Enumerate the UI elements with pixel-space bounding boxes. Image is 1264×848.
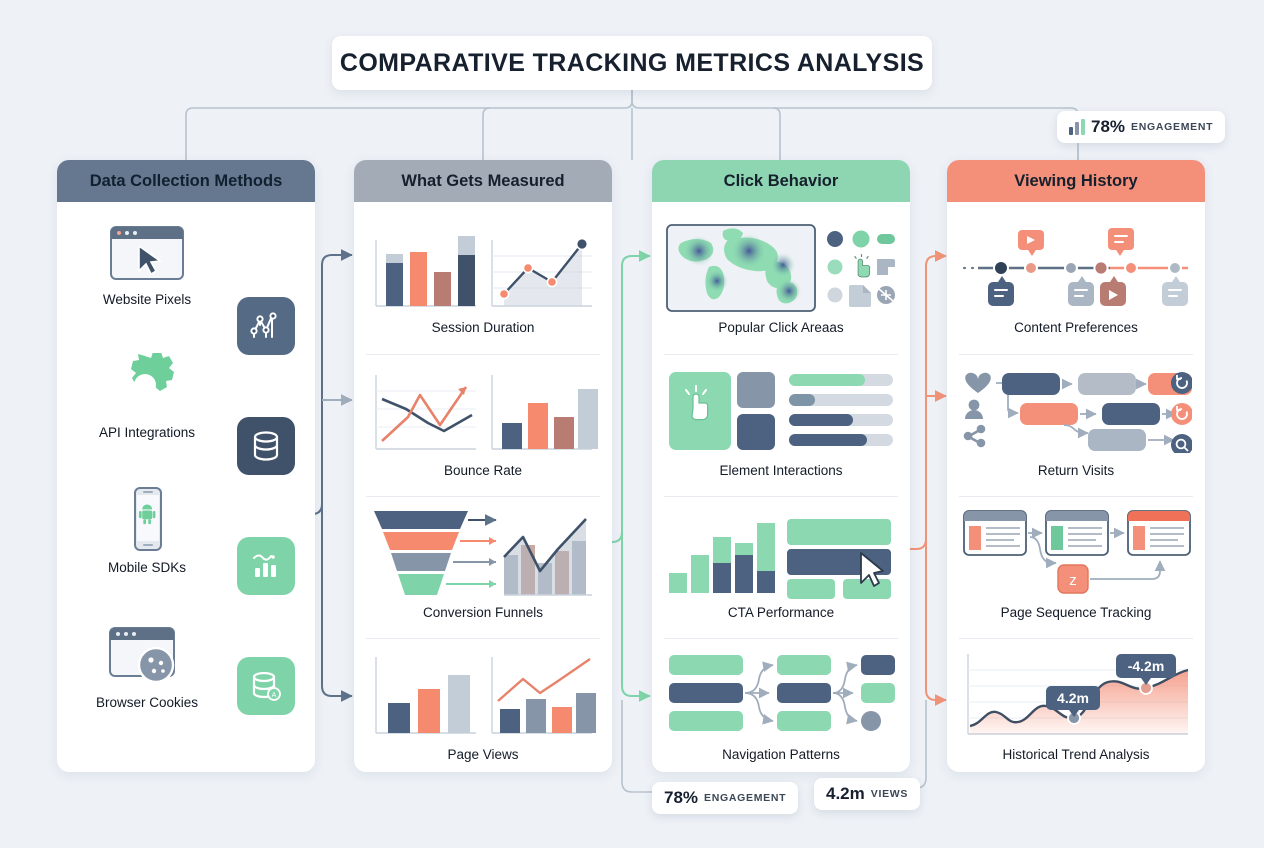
- browser-cookie-icon: [77, 617, 217, 687]
- metric-label: Page Sequence Tracking: [959, 605, 1193, 620]
- metric-popular-click-areas[interactable]: Popular Click Areaas: [664, 212, 898, 354]
- badge-engagement-bottom[interactable]: 78% ENGAGEMENT: [652, 782, 798, 814]
- collection-pipeline: Website Pixels API Integrations: [69, 212, 303, 772]
- column-body-data-collection: Website Pixels API Integrations: [57, 202, 315, 772]
- metric-cta-performance[interactable]: CTA Performance: [664, 496, 898, 638]
- metric-content-preferences[interactable]: Content Preferences: [959, 212, 1193, 354]
- metric-label: CTA Performance: [664, 605, 898, 620]
- column-body-click-behavior: Popular Click Areaas: [652, 202, 910, 772]
- badge-value: 4.2m: [826, 784, 865, 804]
- source-label: Browser Cookies: [77, 695, 217, 710]
- metric-historical-trend-analysis[interactable]: 4.2m -4.2m Historical Trend Analysis: [959, 638, 1193, 772]
- infographic-canvas: COMPARATIVE TRACKING METRICS ANALYSIS Da…: [0, 0, 1264, 848]
- bar-and-line-chart: [366, 218, 600, 318]
- bars-and-trend-chart: [366, 645, 600, 745]
- page-title: COMPARATIVE TRACKING METRICS ANALYSIS: [332, 36, 932, 90]
- column-header-what-gets-measured: What Gets Measured: [354, 160, 612, 202]
- database-analytics-icon: A: [250, 670, 282, 702]
- svg-text:A: A: [272, 692, 277, 699]
- line-and-bar-chart: [366, 361, 600, 461]
- area-trend: 4.2m -4.2m: [959, 645, 1193, 745]
- metric-return-visits[interactable]: Return Visits: [959, 354, 1193, 496]
- column-what-gets-measured: What Gets Measured: [354, 160, 612, 772]
- badge-value: 78%: [664, 788, 698, 808]
- metric-label: Conversion Funnels: [366, 605, 600, 620]
- bar-chart-icon: [1069, 119, 1085, 135]
- timeline: [959, 218, 1193, 318]
- metric-label: Navigation Patterns: [664, 747, 898, 762]
- bar-chart-icon: [251, 551, 281, 581]
- badge-engagement-top[interactable]: 78% ENGAGEMENT: [1057, 111, 1225, 143]
- source-label: API Integrations: [77, 425, 217, 440]
- metric-element-interactions[interactable]: Element Interactions: [664, 354, 898, 496]
- network-graph-icon: [250, 310, 282, 342]
- metric-label: Return Visits: [959, 463, 1193, 478]
- badge-label: VIEWS: [871, 788, 908, 800]
- source-api-integrations[interactable]: API Integrations: [77, 347, 217, 440]
- metric-bounce-rate[interactable]: Bounce Rate: [366, 354, 600, 496]
- source-browser-cookies[interactable]: Browser Cookies: [77, 617, 217, 710]
- metric-label: Popular Click Areaas: [664, 320, 898, 335]
- column-viewing-history: Viewing History: [947, 160, 1205, 772]
- world-heatmap: [664, 218, 898, 318]
- metric-label: Session Duration: [366, 320, 600, 335]
- column-data-collection-methods: Data Collection Methods Website Pixels: [57, 160, 315, 772]
- click-tiles-and-progress: [664, 361, 898, 461]
- metric-label: Page Views: [366, 747, 600, 762]
- metric-navigation-patterns[interactable]: Navigation Patterns: [664, 638, 898, 772]
- column-body-measured: Session Duration: [354, 202, 612, 772]
- badge-value: 78%: [1091, 117, 1125, 137]
- stacked-bars-and-blocks: [664, 503, 898, 603]
- metric-label: Element Interactions: [664, 463, 898, 478]
- metric-page-sequence-tracking[interactable]: z Page Sequence Tracking: [959, 496, 1193, 638]
- node-bar-chart[interactable]: [237, 537, 295, 595]
- column-click-behavior: Click Behavior: [652, 160, 910, 772]
- metric-label: Content Preferences: [959, 320, 1193, 335]
- badge-views-bottom[interactable]: 4.2m VIEWS: [814, 778, 920, 810]
- column-header-data-collection-methods: Data Collection Methods: [57, 160, 315, 202]
- column-header-click-behavior: Click Behavior: [652, 160, 910, 202]
- column-body-viewing-history: Content Preferences: [947, 202, 1205, 772]
- source-label: Website Pixels: [77, 292, 217, 307]
- gear-icon: [77, 347, 217, 417]
- funnel-and-area-chart: [366, 503, 600, 603]
- node-database[interactable]: [237, 417, 295, 475]
- metric-label: Historical Trend Analysis: [959, 747, 1193, 762]
- node-network-graph[interactable]: [237, 297, 295, 355]
- browser-cursor-icon: [77, 214, 217, 284]
- visit-flow: [959, 361, 1193, 461]
- mobile-android-icon: [77, 482, 217, 552]
- metric-session-duration[interactable]: Session Duration: [366, 212, 600, 354]
- metric-page-views[interactable]: Page Views: [366, 638, 600, 772]
- source-label: Mobile SDKs: [77, 560, 217, 575]
- metric-label: Bounce Rate: [366, 463, 600, 478]
- metric-conversion-funnels[interactable]: Conversion Funnels: [366, 496, 600, 638]
- node-database-analytics[interactable]: A: [237, 657, 295, 715]
- page-title-text: COMPARATIVE TRACKING METRICS ANALYSIS: [340, 49, 924, 78]
- source-mobile-sdks[interactable]: Mobile SDKs: [77, 482, 217, 575]
- svg-text:z: z: [1069, 572, 1077, 589]
- source-website-pixels[interactable]: Website Pixels: [77, 214, 217, 307]
- page-sequence: z: [959, 503, 1193, 603]
- badge-label: ENGAGEMENT: [1131, 121, 1213, 133]
- badge-label: ENGAGEMENT: [704, 792, 786, 804]
- column-header-viewing-history: Viewing History: [947, 160, 1205, 202]
- flow-blocks: [664, 645, 898, 745]
- database-icon: [251, 430, 281, 462]
- trend-tooltip-1: 4.2m: [1057, 690, 1089, 706]
- trend-tooltip-2: -4.2m: [1128, 658, 1165, 674]
